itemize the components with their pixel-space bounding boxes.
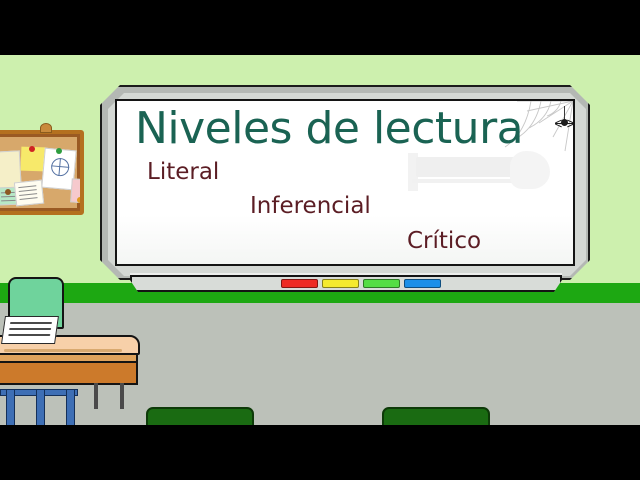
blue-marker-icon	[404, 279, 441, 288]
red-marker-icon	[281, 279, 318, 288]
page-title: Niveles de lectura	[135, 103, 523, 154]
letterbox-bar-bottom	[0, 425, 640, 480]
bulletin-board-hook	[40, 123, 52, 133]
reading-level-literal: Literal	[147, 159, 219, 185]
bulletin-board-cork	[0, 137, 77, 208]
letterbox-bar-top	[0, 0, 640, 55]
video-frame: Niveles de lectura Literal Inferencial C…	[0, 0, 640, 480]
spider-icon	[557, 106, 573, 132]
compass-icon	[50, 157, 70, 177]
pin-icon	[5, 189, 11, 195]
bulletin-board	[0, 130, 84, 215]
pin-icon	[29, 146, 35, 152]
desk-leg	[120, 383, 124, 409]
desk-paper	[1, 316, 59, 344]
classroom-scene: Niveles de lectura Literal Inferencial C…	[0, 55, 640, 425]
desk-front-panel	[0, 361, 138, 385]
whiteboard: Niveles de lectura Literal Inferencial C…	[100, 85, 590, 305]
pin-icon	[77, 197, 83, 203]
list-item	[14, 180, 44, 207]
reading-level-inferencial: Inferencial	[250, 193, 371, 219]
green-marker-icon	[363, 279, 400, 288]
yellow-marker-icon	[322, 279, 359, 288]
poster-caption	[46, 182, 70, 184]
reading-level-critico: Crítico	[407, 228, 481, 254]
pin-icon	[56, 148, 62, 154]
student-chair	[146, 407, 254, 425]
student-chair	[382, 407, 490, 425]
eraser-smudge-icon	[402, 149, 552, 204]
whiteboard-surface: Niveles de lectura Literal Inferencial C…	[115, 99, 575, 266]
desk-leg	[94, 383, 98, 409]
desk-groove	[4, 349, 122, 352]
